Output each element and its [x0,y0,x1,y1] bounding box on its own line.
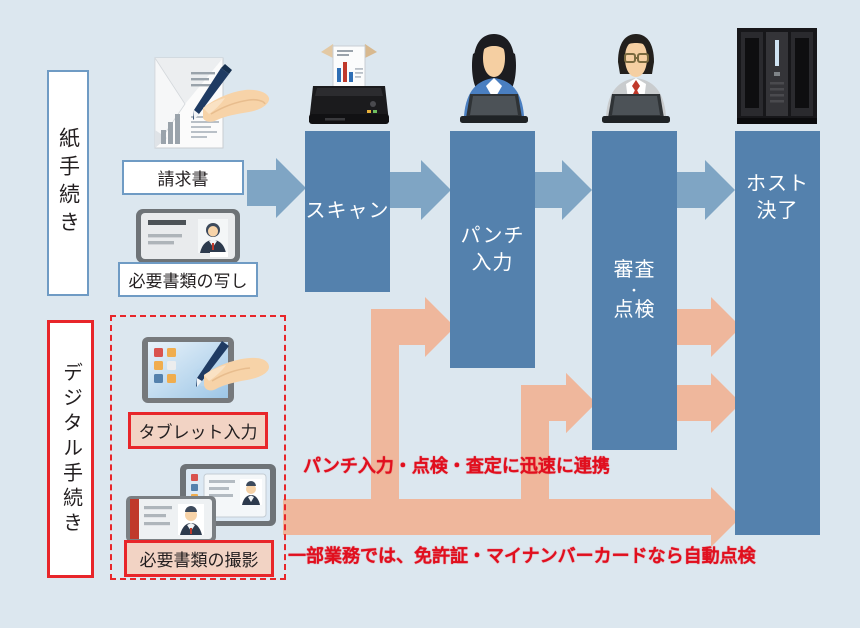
annotation-fast-linkage-text: パンチ入力・点検・査定に迅速に連携 [303,456,610,476]
process-box-review-line3: 点検 [614,297,656,324]
process-box-scan-label: スキャン [306,198,390,225]
caption-doc-photo: 必要書類の撮影 [124,540,274,577]
tablet-camera-id-icon [122,462,282,544]
female-operator-laptop-icon [452,28,536,128]
caption-tablet-input: タブレット入力 [128,412,268,449]
caption-doc-copy-text: 必要書類の写し [129,267,248,292]
process-box-host-label: ホスト 決了 [746,171,809,225]
caption-doc-copy: 必要書類の写し [118,262,258,297]
process-box-host-line1: ホスト [746,171,809,198]
caption-invoice-text: 請求書 [158,165,209,190]
channel-label-digital: デジタル手続き [47,320,94,578]
male-reviewer-laptop-icon [594,28,678,128]
process-box-punch-line2: 入力 [461,250,525,277]
channel-label-digital-text: デジタル手続き [61,362,81,537]
caption-tablet-input-text: タブレット入力 [139,418,258,443]
process-box-review[interactable]: 審査 ・ 点検 [592,131,677,450]
caption-invoice: 請求書 [122,160,244,195]
channel-label-paper-text: 紙手続き [58,127,79,239]
process-box-punch[interactable]: パンチ 入力 [450,131,535,368]
annotation-auto-check-text: 一部業務では、免許証・マイナンバーカードなら自動点検 [288,546,756,566]
annotation-fast-linkage: パンチ入力・点検・査定に迅速に連携 [303,452,610,478]
id-card-icon [134,205,242,267]
server-rack-icon [733,26,821,126]
process-box-punch-label: パンチ 入力 [461,223,525,277]
process-box-review-line1: 審査 [614,257,656,284]
tablet-stylus-icon [138,333,270,411]
annotation-auto-check: 一部業務では、免許証・マイナンバーカードなら自動点検 [288,542,756,568]
caption-doc-photo-text: 必要書類の撮影 [140,546,259,571]
hand-writing-document-icon [125,52,270,157]
process-box-host-line2: 決了 [746,198,809,225]
process-box-review-line2: ・ [614,284,656,297]
process-box-scan[interactable]: スキャン [305,131,390,292]
process-box-host[interactable]: ホスト 決了 [735,131,820,535]
process-box-review-label: 審査 ・ 点検 [614,257,656,324]
document-scanner-icon [303,30,395,128]
channel-label-paper: 紙手続き [47,70,89,296]
process-box-punch-line1: パンチ [461,223,525,250]
